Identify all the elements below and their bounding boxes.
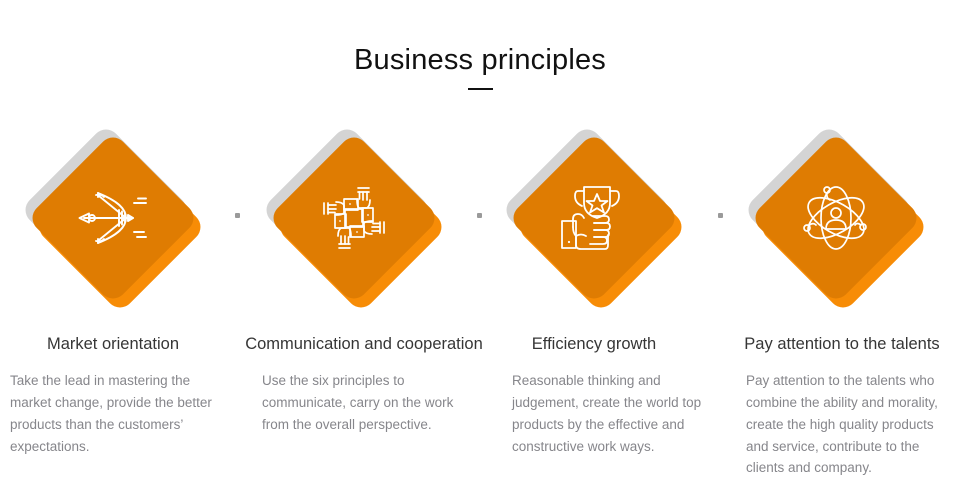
principle-card-efficiency-growth[interactable]: Efficiency growth Reasonable thinking an… [474, 0, 714, 495]
card-heading: Market orientation [0, 334, 233, 355]
separator-dot-2 [477, 213, 482, 218]
card-body: Pay attention to the talents who combine… [746, 370, 952, 479]
card-heading: Efficiency growth [474, 334, 714, 355]
bow-and-arrow-icon [52, 157, 174, 279]
diamond-badge [474, 126, 714, 311]
principle-card-market-orientation[interactable]: Market orientation Take the lead in mast… [0, 0, 233, 495]
diamond-badge [716, 126, 956, 311]
diamond-badge [0, 126, 233, 311]
card-body: Take the lead in mastering the market ch… [10, 370, 216, 457]
hand-holding-trophy-icon [533, 157, 655, 279]
separator-dot-3 [718, 213, 723, 218]
principle-card-pay-attention-talents[interactable]: Pay attention to the talents Pay attenti… [716, 0, 956, 495]
card-heading: Communication and cooperation [234, 334, 494, 355]
card-heading: Pay attention to the talents [716, 334, 960, 355]
card-body: Use the six principles to communicate, c… [262, 370, 468, 436]
principle-card-communication-cooperation[interactable]: Communication and cooperation Use the si… [234, 0, 474, 495]
separator-dot-1 [235, 213, 240, 218]
atom-person-icon [775, 157, 897, 279]
principles-row: Market orientation Take the lead in mast… [0, 0, 960, 495]
card-body: Reasonable thinking and judgement, creat… [512, 370, 718, 457]
diamond-badge [234, 126, 474, 311]
four-hands-teamwork-icon [293, 157, 415, 279]
